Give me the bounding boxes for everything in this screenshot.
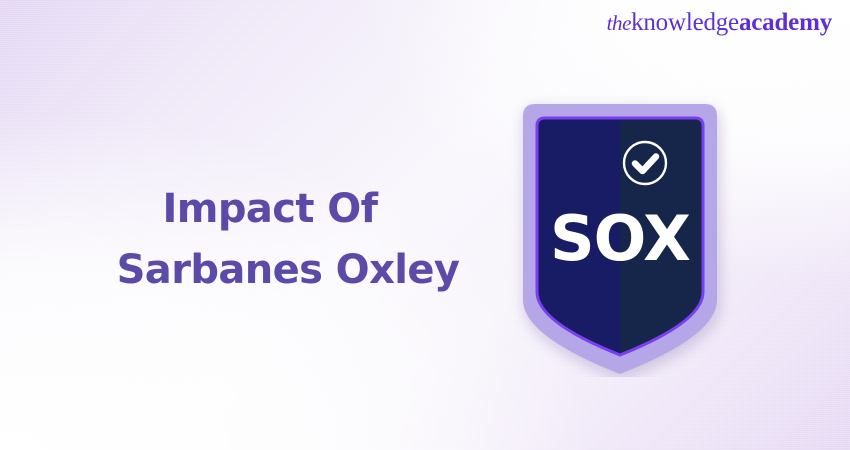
logo-word-the: the	[607, 11, 631, 35]
brand-logo[interactable]: theknowledgeacademy	[607, 10, 832, 35]
poster-canvas: theknowledgeacademy Impact Of Sarbanes O…	[0, 0, 850, 450]
page-title-line-2: Sarbanes Oxley	[88, 240, 488, 301]
logo-word-knowledge: knowledge	[631, 9, 739, 36]
page-title-line-1: Impact Of	[88, 179, 488, 240]
sox-shield-badge: SOX	[505, 92, 755, 377]
logo-word-academy: academy	[739, 9, 832, 36]
page-title: Impact Of Sarbanes Oxley	[88, 179, 488, 301]
badge-label: SOX	[550, 202, 690, 275]
